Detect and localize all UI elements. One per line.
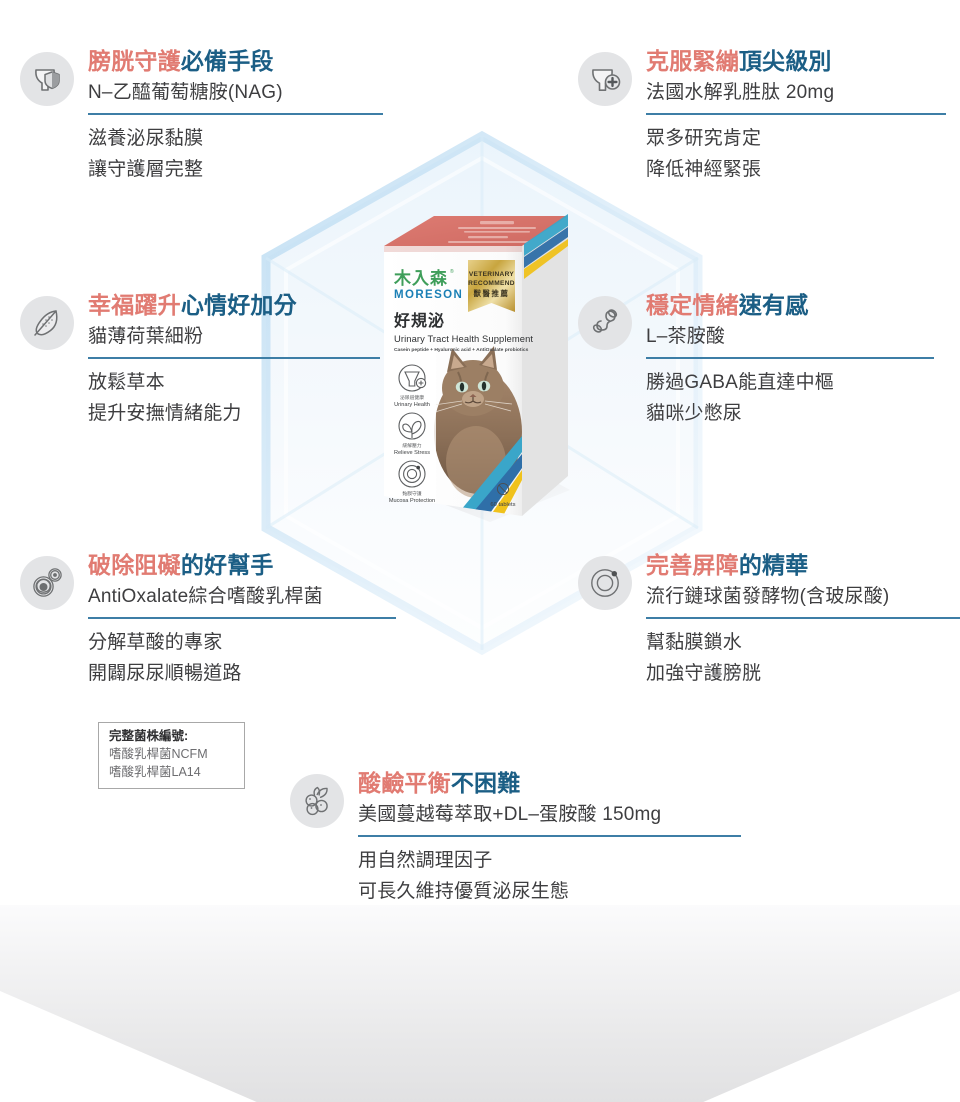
feature-line: 讓守護層完整	[88, 155, 383, 186]
title-rest: 不困難	[451, 770, 521, 796]
feature-line: 滋養泌尿黏膜	[88, 124, 383, 155]
feature-line: 加強守護膀胱	[646, 659, 960, 690]
bladder-shield-icon	[20, 52, 74, 106]
feature-line: 眾多研究肯定	[646, 124, 946, 155]
feature-catnip-mood: 幸福躍升心情好加分 貓薄荷葉細粉 放鬆草本 提升安撫情緒能力	[20, 292, 450, 429]
title-rest: 必備手段	[181, 48, 274, 74]
infographic-canvas: { "brand": { "accent_red": "#e17b72", "a…	[0, 0, 960, 1102]
feature-subtitle: 法國水解乳胜肽 20mg	[646, 80, 946, 106]
feature-bladder-protection: 膀胱守護必備手段 N–乙醯葡萄糖胺(NAG) 滋養泌尿黏膜 讓守護層完整	[20, 48, 450, 185]
bladder-plus-icon	[578, 52, 632, 106]
bottom-chevron-shape	[0, 905, 960, 1102]
feature-line: 用自然調理因子	[358, 846, 741, 877]
feature-line: 放鬆草本	[88, 368, 380, 399]
strain-number-note: 完整菌株編號: 嗜酸乳桿菌NCFM 嗜酸乳桿菌LA14	[98, 722, 245, 789]
svg-text:獸醫推薦: 獸醫推薦	[474, 289, 510, 298]
svg-text:®: ®	[450, 268, 454, 275]
feature-antioxalate: 破除阻礙的好幫手 AntiOxalate綜合嗜酸乳桿菌 分解草酸的專家 開闢尿尿…	[20, 552, 450, 689]
title-rest: 心情好加分	[181, 292, 297, 318]
feature-line: 貓咪少憋尿	[646, 399, 934, 430]
divider-rule	[358, 835, 741, 837]
feature-title: 克服緊繃頂尖級別	[646, 48, 946, 75]
svg-text:Relieve Stress: Relieve Stress	[394, 450, 430, 456]
cell-crystal-icon	[20, 556, 74, 610]
feature-subtitle: 貓薄荷葉細粉	[88, 324, 380, 350]
feature-ph-balance: 酸鹼平衡不困難 美國蔓越莓萃取+DL–蛋胺酸 150mg 用自然調理因子 可長久…	[290, 770, 760, 907]
title-rest: 的好幫手	[181, 552, 274, 578]
divider-rule	[646, 113, 946, 115]
svg-text:木入森: 木入森	[393, 268, 448, 288]
title-highlight: 克服緊繃	[646, 48, 739, 74]
strain-note-line: 嗜酸乳桿菌NCFM	[109, 745, 234, 763]
divider-rule	[646, 357, 934, 359]
title-rest: 速有感	[739, 292, 809, 318]
strain-note-title: 完整菌株編號:	[109, 728, 234, 745]
feature-title: 幸福躍升心情好加分	[88, 292, 380, 319]
divider-rule	[88, 357, 380, 359]
leaf-icon	[20, 296, 74, 350]
orbit-ring-icon	[578, 556, 632, 610]
title-rest: 頂尖級別	[739, 48, 832, 74]
feature-title: 酸鹼平衡不困難	[358, 770, 741, 797]
feature-title: 完善屏障的精華	[646, 552, 960, 579]
svg-text:VETERINARY: VETERINARY	[469, 271, 515, 278]
feature-subtitle: N–乙醯葡萄糖胺(NAG)	[88, 80, 383, 106]
title-highlight: 幸福躍升	[88, 292, 181, 318]
title-rest: 的精華	[739, 552, 809, 578]
divider-rule	[88, 113, 383, 115]
feature-line: 幫黏膜鎖水	[646, 628, 960, 659]
probiotic-bacteria-icon	[578, 296, 632, 350]
feature-mucosa-barrier: 完善屏障的精華 流行鏈球菌發酵物(含玻尿酸) 幫黏膜鎖水 加強守護膀胱	[578, 552, 960, 689]
svg-text:緩解壓力: 緩解壓力	[402, 442, 421, 449]
feature-title: 破除阻礙的好幫手	[88, 552, 396, 579]
feature-line: 勝過GABA能直達中樞	[646, 368, 934, 399]
feature-subtitle: 美國蔓越莓萃取+DL–蛋胺酸 150mg	[358, 802, 741, 828]
svg-text:RECOMMEND: RECOMMEND	[468, 280, 515, 287]
strain-note-line: 嗜酸乳桿菌LA14	[109, 763, 234, 781]
feature-theanine-calm: 穩定情緒速有感 L–茶胺酸 勝過GABA能直達中樞 貓咪少憋尿	[578, 292, 950, 429]
feature-subtitle: AntiOxalate綜合嗜酸乳桿菌	[88, 584, 396, 610]
title-highlight: 穩定情緒	[646, 292, 739, 318]
title-highlight: 膀胱守護	[88, 48, 181, 74]
feature-subtitle: L–茶胺酸	[646, 324, 934, 350]
svg-text:Mucosa Protection: Mucosa Protection	[389, 498, 435, 504]
feature-line: 分解草酸的專家	[88, 628, 396, 659]
svg-text:60 tablets: 60 tablets	[490, 502, 515, 508]
title-highlight: 破除阻礙	[88, 552, 181, 578]
feature-line: 開闢尿尿順暢道路	[88, 659, 396, 690]
feature-line: 可長久維持優質泌尿生態	[358, 877, 741, 908]
feature-title: 膀胱守護必備手段	[88, 48, 383, 75]
feature-line: 提升安撫情緒能力	[88, 399, 380, 430]
cranberry-icon	[290, 774, 344, 828]
feature-line: 降低神經緊張	[646, 155, 946, 186]
feature-stress-relief: 克服緊繃頂尖級別 法國水解乳胜肽 20mg 眾多研究肯定 降低神經緊張	[578, 48, 950, 185]
title-highlight: 酸鹼平衡	[358, 770, 451, 796]
svg-text:黏膜守護: 黏膜守護	[402, 490, 421, 497]
divider-rule	[646, 617, 960, 619]
feature-subtitle: 流行鏈球菌發酵物(含玻尿酸)	[646, 584, 960, 610]
divider-rule	[88, 617, 396, 619]
feature-title: 穩定情緒速有感	[646, 292, 934, 319]
title-highlight: 完善屏障	[646, 552, 739, 578]
